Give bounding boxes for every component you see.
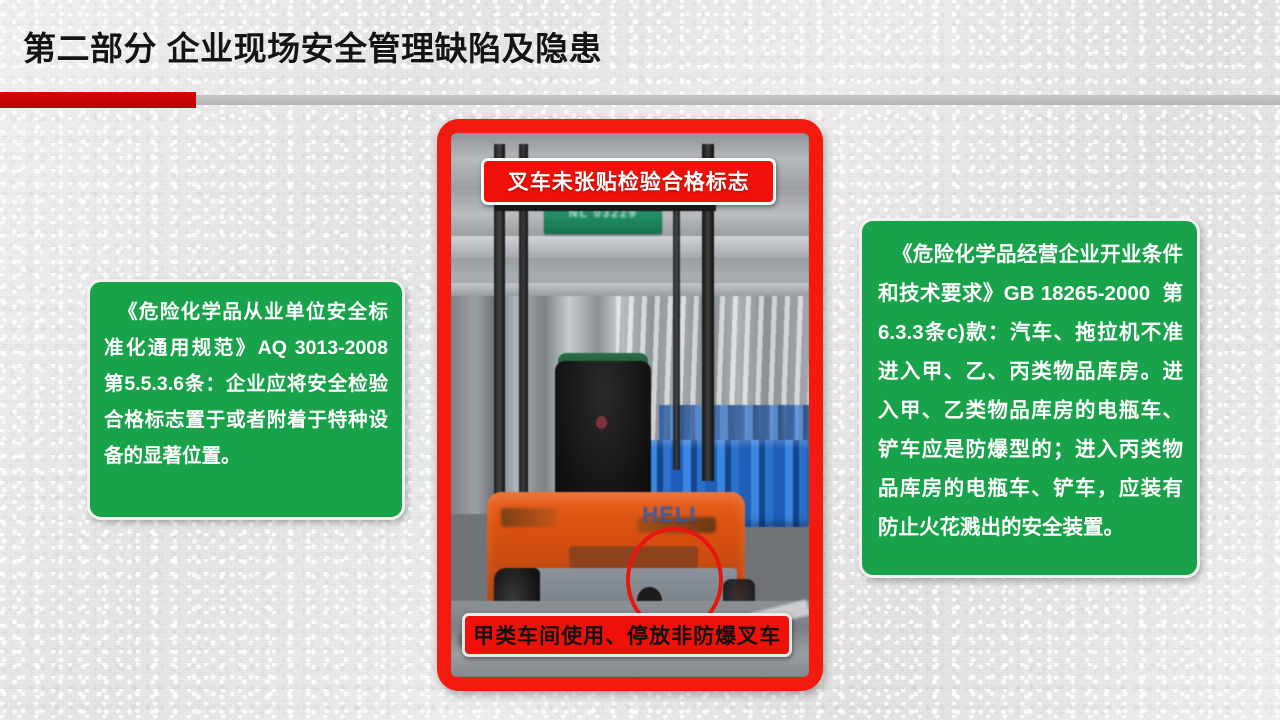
callout-left-regulation: 《危险化学品从业单位安全标准化通用规范》AQ 3013-2008 第5.5.3.…: [87, 279, 405, 520]
header-divider: [0, 95, 1280, 105]
page-title: 第二部分 企业现场安全管理缺陷及隐患: [23, 27, 602, 71]
photo-caption-bottom: 甲类车间使用、停放非防爆叉车: [462, 613, 791, 658]
photo-mast-right-inner: [673, 209, 680, 470]
photo-card-red-frame: NL 03229 HELI: [437, 119, 823, 691]
callout-right-regulation: 《危险化学品经营企业开业条件和技术要求》GB 18265-2000 第6.3.3…: [859, 218, 1200, 578]
photo-caption-top: 叉车未张贴检验合格标志: [481, 158, 776, 205]
callout-right-text: 《危险化学品经营企业开业条件和技术要求》GB 18265-2000 第6.3.3…: [878, 235, 1183, 547]
photo-operator-seat: [555, 361, 652, 513]
header-divider-red-bar: [0, 92, 196, 108]
callout-left-text: 《危险化学品从业单位安全标准化通用规范》AQ 3013-2008 第5.5.3.…: [104, 294, 388, 474]
slide-canvas: 第二部分 企业现场安全管理缺陷及隐患 《危险化学品从业单位安全标准化通用规范》A…: [0, 0, 1280, 720]
photo-forklift-warehouse: NL 03229 HELI: [451, 133, 809, 677]
photo-rust-patch-left: [501, 508, 558, 527]
